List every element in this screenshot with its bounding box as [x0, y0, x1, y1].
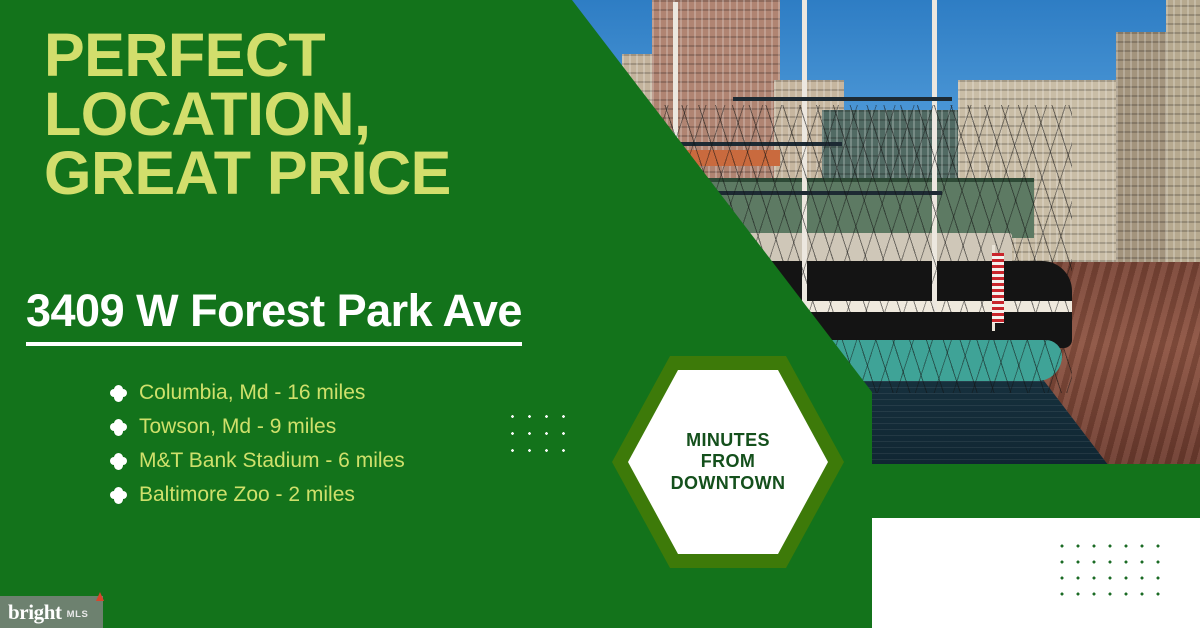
list-item-label: Baltimore Zoo - 2 miles: [139, 483, 355, 507]
logo-wordmark: bright: [8, 602, 62, 623]
list-item-label: Towson, Md - 9 miles: [139, 415, 336, 439]
list-item: Baltimore Zoo - 2 miles: [110, 478, 405, 512]
nearby-landmarks-list: Columbia, Md - 16 miles Towson, Md - 9 m…: [110, 376, 405, 512]
badge-line-2: FROM: [701, 451, 756, 472]
clover-bullet-icon: [110, 385, 127, 402]
badge-line-3: DOWNTOWN: [671, 473, 786, 494]
list-item-label: Columbia, Md - 16 miles: [139, 381, 365, 405]
clover-bullet-icon: [110, 487, 127, 504]
list-item: Towson, Md - 9 miles: [110, 410, 405, 444]
ship-mast: [802, 0, 807, 311]
bright-mls-logo: bright MLS: [0, 596, 103, 628]
headline-line-3: GREAT PRICE: [44, 144, 564, 203]
page-title: PERFECT LOCATION, GREAT PRICE: [44, 26, 564, 203]
american-flag: [992, 253, 1004, 323]
flame-icon: [96, 592, 104, 601]
real-estate-flyer: PERFECT LOCATION, GREAT PRICE 3409 W For…: [0, 0, 1200, 628]
logo-suffix: MLS: [67, 609, 89, 620]
badge-line-1: MINUTES: [686, 430, 770, 451]
badge-text: MINUTES FROM DOWNTOWN: [612, 356, 844, 568]
dot-grid-decoration-left: [504, 408, 576, 460]
list-item-label: M&T Bank Stadium - 6 miles: [139, 449, 405, 473]
headline-line-1: PERFECT: [44, 26, 564, 85]
clover-bullet-icon: [110, 419, 127, 436]
status-badge: MINUTES FROM DOWNTOWN: [612, 356, 844, 568]
headline-line-2: LOCATION,: [44, 85, 564, 144]
list-item: Columbia, Md - 16 miles: [110, 376, 405, 410]
ship-yard: [733, 97, 953, 101]
building: [1166, 0, 1200, 290]
list-item: M&T Bank Stadium - 6 miles: [110, 444, 405, 478]
property-address: 3409 W Forest Park Ave: [26, 285, 522, 346]
clover-bullet-icon: [110, 453, 127, 470]
dot-grid-decoration-right: [1054, 538, 1164, 600]
ship-mast: [932, 0, 937, 311]
